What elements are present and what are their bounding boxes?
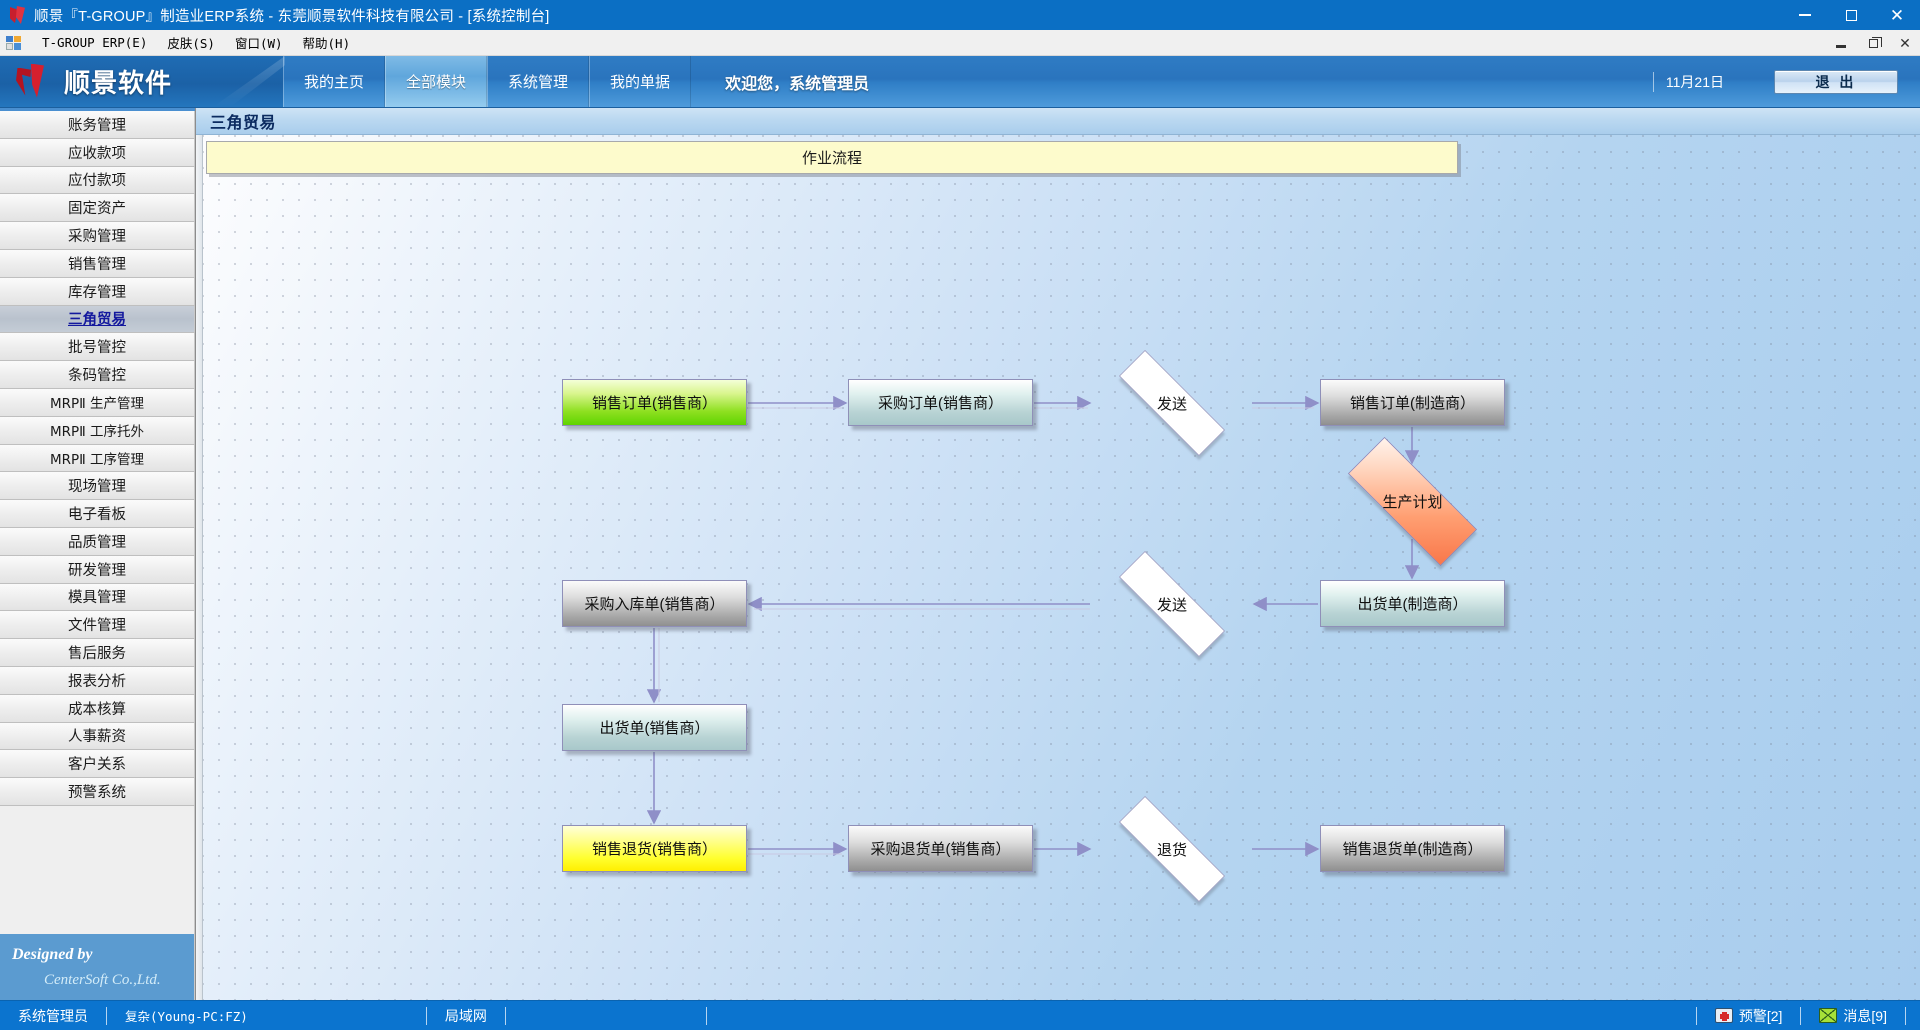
mdi-close-icon: ✕ <box>1899 36 1911 50</box>
tab-all-modules[interactable]: 全部模块 <box>385 56 487 107</box>
sidebar-item-mold[interactable]: 模具管理 <box>0 584 195 612</box>
maximize-icon <box>1846 10 1857 21</box>
sidebar-item-mrp2-outsourcing[interactable]: MRPⅡ 工序托外 <box>0 417 195 445</box>
sidebar-item-documents[interactable]: 文件管理 <box>0 611 195 639</box>
window-title: 顺景『T-GROUP』制造业ERP系统 - 东莞顺景软件科技有限公司 - [系统… <box>34 5 550 26</box>
mdi-app-icon <box>6 36 22 50</box>
status-empty-1 <box>506 1001 706 1030</box>
maximize-button[interactable] <box>1828 0 1874 30</box>
tab-my-homepage[interactable]: 我的主页 <box>283 56 385 107</box>
sidebar-item-alert-system[interactable]: 预警系统 <box>0 778 195 806</box>
alert-icon <box>1715 1008 1733 1023</box>
menu-item-window[interactable]: 窗口(W) <box>225 30 293 55</box>
sidebar-item-fixed-assets[interactable]: 固定资产 <box>0 194 195 222</box>
sidebar-item-hr-payroll[interactable]: 人事薪资 <box>0 723 195 751</box>
sidebar-item-reports[interactable]: 报表分析 <box>0 667 195 695</box>
flow-node-shipment-manufacturer[interactable]: 出货单(制造商） <box>1320 580 1505 627</box>
flow-node-shipment-dealer[interactable]: 出货单(销售商） <box>562 704 747 751</box>
brand-name: 顺景软件 <box>64 63 172 100</box>
sidebar-item-purchasing[interactable]: 采购管理 <box>0 222 195 250</box>
status-divider <box>1905 1007 1906 1025</box>
logout-button[interactable]: 退 出 <box>1774 70 1898 94</box>
sidebar-item-accounting[interactable]: 账务管理 <box>0 111 195 139</box>
content-area: 三角贸易 作业流程 <box>196 108 1920 1000</box>
header-right-area: 11月21日 退 出 <box>1653 56 1920 107</box>
sidebar-item-rnd[interactable]: 研发管理 <box>0 556 195 584</box>
status-message[interactable]: 消息[9] <box>1801 1006 1905 1026</box>
minimize-button[interactable] <box>1782 0 1828 30</box>
sidebar-item-sales[interactable]: 销售管理 <box>0 250 195 278</box>
flow-node-purchase-order-dealer[interactable]: 采购订单(销售商） <box>848 379 1033 426</box>
page-title: 三角贸易 <box>210 109 276 133</box>
sidebar-item-triangular-trade[interactable]: 三角贸易 <box>0 306 195 334</box>
alert-label: 预警[2] <box>1739 1006 1783 1026</box>
menu-item-help[interactable]: 帮助(H) <box>293 30 361 55</box>
sidebar: 账务管理 应收款项 应付款项 固定资产 采购管理 销售管理 库存管理 三角贸易 … <box>0 108 196 1000</box>
flow-connectors <box>202 135 1920 1000</box>
tab-system-admin[interactable]: 系统管理 <box>487 56 589 107</box>
body-wrapper: 账务管理 应收款项 应付款项 固定资产 采购管理 销售管理 库存管理 三角贸易 … <box>0 108 1920 1000</box>
flow-canvas[interactable]: 作业流程 <box>196 135 1920 1000</box>
flow-diamond-return[interactable]: 退货 <box>1092 823 1252 875</box>
sidebar-item-costing[interactable]: 成本核算 <box>0 695 195 723</box>
sidebar-item-shopfloor[interactable]: 现场管理 <box>0 472 195 500</box>
sidebar-item-list: 账务管理 应收款项 应付款项 固定资产 采购管理 销售管理 库存管理 三角贸易 … <box>0 111 195 806</box>
menu-bar: T-GROUP ERP(E) 皮肤(S) 窗口(W) 帮助(H) ✕ <box>0 30 1920 56</box>
sidebar-item-lot-control[interactable]: 批号管控 <box>0 333 195 361</box>
nav-tabs: 我的主页 全部模块 系统管理 我的单据 <box>283 56 691 107</box>
sidebar-item-inventory[interactable]: 库存管理 <box>0 278 195 306</box>
flow-node-sales-order-dealer[interactable]: 销售订单(销售商） <box>562 379 747 426</box>
sidebar-item-quality[interactable]: 品质管理 <box>0 528 195 556</box>
diamond-label: 生产计划 <box>1382 491 1442 512</box>
close-button[interactable]: ✕ <box>1874 0 1920 30</box>
mdi-minimize-button[interactable] <box>1832 34 1850 52</box>
os-titlebar: 顺景『T-GROUP』制造业ERP系统 - 东莞顺景软件科技有限公司 - [系统… <box>0 0 1920 30</box>
welcome-message: 欢迎您，系统管理员 <box>725 56 869 107</box>
status-network: 局域网 <box>427 1001 505 1030</box>
sidebar-item-after-sales[interactable]: 售后服务 <box>0 639 195 667</box>
mdi-window-controls: ✕ <box>1832 30 1914 56</box>
flow-node-sales-return-manufacturer[interactable]: 销售退货单(制造商） <box>1320 825 1505 872</box>
menu-item-skin[interactable]: 皮肤(S) <box>157 30 225 55</box>
flow-diamond-send-middle[interactable]: 发送 <box>1092 578 1252 630</box>
mdi-restore-icon <box>1869 39 1878 48</box>
sidebar-item-barcode-control[interactable]: 条码管控 <box>0 361 195 389</box>
status-divider <box>706 1007 707 1025</box>
message-label: 消息[9] <box>1843 1006 1887 1026</box>
flow-diamond-production-plan[interactable]: 生产计划 <box>1320 465 1505 538</box>
brand-swoosh-decoration <box>213 56 285 107</box>
sidebar-item-receivables[interactable]: 应收款项 <box>0 139 195 167</box>
designed-by-label: Designed by <box>12 946 92 964</box>
sidebar-item-e-kanban[interactable]: 电子看板 <box>0 500 195 528</box>
header-date: 11月21日 <box>1666 72 1724 92</box>
designer-company: CenterSoft Co.,Ltd. <box>44 972 161 989</box>
flow-node-sales-order-manufacturer[interactable]: 销售订单(制造商） <box>1320 379 1505 426</box>
sidebar-item-crm[interactable]: 客户关系 <box>0 750 195 778</box>
diamond-label: 退货 <box>1157 839 1187 860</box>
flow-node-purchase-receipt-dealer[interactable]: 采购入库单(销售商） <box>562 580 747 627</box>
page-title-bar: 三角贸易 <box>196 108 1920 135</box>
status-user: 系统管理员 <box>0 1001 106 1030</box>
flow-node-sales-return-dealer[interactable]: 销售退货(销售商） <box>562 825 747 872</box>
menu-item-erp[interactable]: T-GROUP ERP(E) <box>32 32 157 53</box>
mail-icon <box>1819 1008 1837 1023</box>
tab-my-documents[interactable]: 我的单据 <box>589 56 691 107</box>
sidebar-item-mrp2-production[interactable]: MRPⅡ 生产管理 <box>0 389 195 417</box>
mdi-restore-button[interactable] <box>1864 34 1882 52</box>
workflow-banner: 作业流程 <box>206 141 1458 174</box>
app-logo-icon <box>6 4 28 26</box>
mdi-minimize-icon <box>1836 45 1846 48</box>
mdi-close-button[interactable]: ✕ <box>1896 34 1914 52</box>
status-alert[interactable]: 预警[2] <box>1697 1006 1801 1026</box>
diamond-label: 发送 <box>1157 393 1187 414</box>
status-bar: 系统管理员 复杂(Young-PC:FZ) 局域网 预警[2] 消息[9] <box>0 1000 1920 1030</box>
app-header: 顺景软件 我的主页 全部模块 系统管理 我的单据 欢迎您，系统管理员 11月21… <box>0 56 1920 108</box>
flow-node-purchase-return-dealer[interactable]: 采购退货单(销售商） <box>848 825 1033 872</box>
brand-logo-icon <box>14 62 54 102</box>
header-separator <box>1653 72 1654 92</box>
sidebar-filler <box>0 806 195 934</box>
sidebar-footer: Designed by CenterSoft Co.,Ltd. <box>0 934 195 1000</box>
status-database: 复杂(Young-PC:FZ) <box>107 1001 266 1030</box>
diamond-label: 发送 <box>1157 594 1187 615</box>
sidebar-item-mrp2-process[interactable]: MRPⅡ 工序管理 <box>0 445 195 473</box>
flow-diamond-send-top[interactable]: 发送 <box>1092 377 1252 429</box>
brand-area: 顺景软件 <box>0 56 283 107</box>
minimize-icon <box>1799 14 1811 16</box>
sidebar-item-payables[interactable]: 应付款项 <box>0 167 195 195</box>
close-icon: ✕ <box>1890 7 1904 24</box>
window-controls: ✕ <box>1782 0 1920 30</box>
status-right-area: 预警[2] 消息[9] <box>1696 1006 1920 1026</box>
